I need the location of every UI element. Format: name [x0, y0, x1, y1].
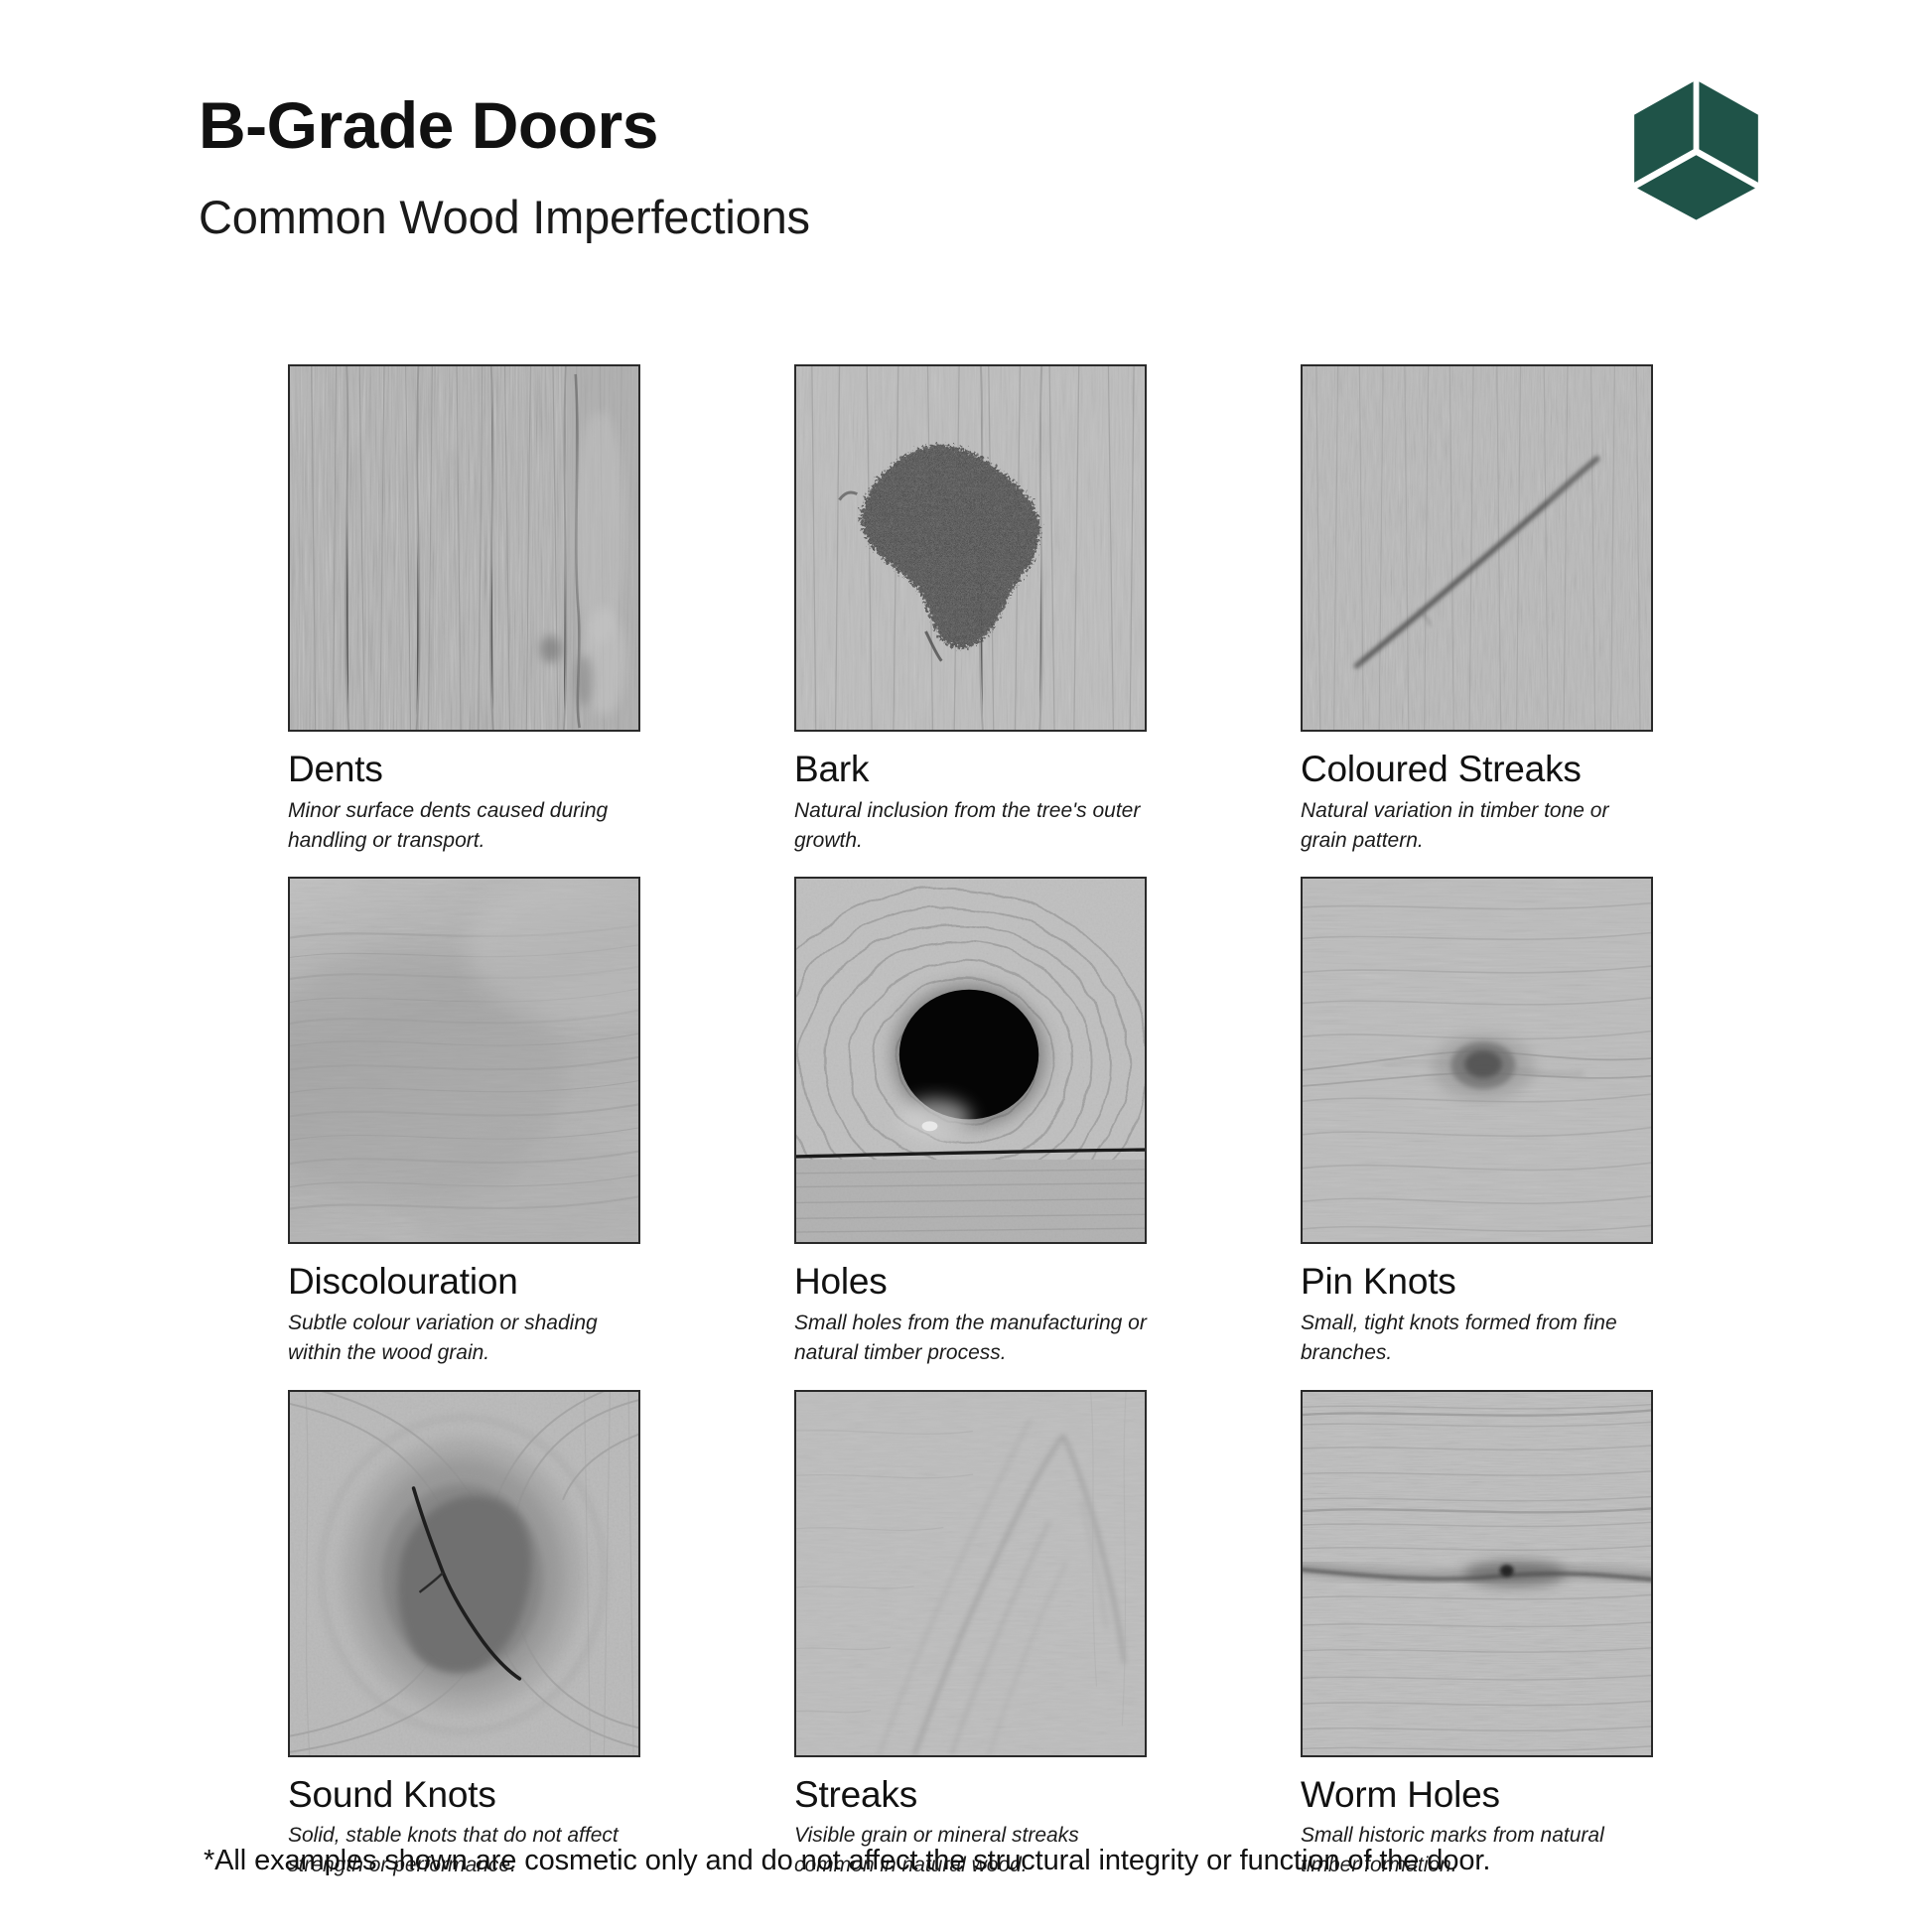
wood-sample-worm-holes [1301, 1390, 1653, 1757]
wood-sample-bark [794, 364, 1147, 732]
cell-streaks: Streaks Visible grain or mineral streaks… [794, 1390, 1147, 1880]
grid-row: Dents Minor surface dents caused during … [288, 364, 1698, 855]
wood-sample-streaks [794, 1390, 1147, 1757]
cell-title: Pin Knots [1301, 1262, 1653, 1303]
page-subtitle: Common Wood Imperfections [199, 160, 1773, 243]
wood-sample-holes [794, 877, 1147, 1244]
imperfection-grid: Dents Minor surface dents caused during … [288, 364, 1698, 1902]
cell-title: Sound Knots [288, 1775, 640, 1816]
cell-bark: Bark Natural inclusion from the tree's o… [794, 364, 1147, 855]
wood-sample-sound-knots [288, 1390, 640, 1757]
wood-sample-pin-knots [1301, 877, 1653, 1244]
footer-note: *All examples shown are cosmetic only an… [204, 1845, 1813, 1877]
cell-sound-knots: Sound Knots Solid, stable knots that do … [288, 1390, 640, 1880]
cell-title: Dents [288, 750, 640, 790]
cell-description: Small holes from the manufacturing or na… [794, 1309, 1147, 1368]
cell-description: Natural inclusion from the tree's outer … [794, 796, 1147, 856]
grid-row: Discolouration Subtle colour variation o… [288, 877, 1698, 1367]
cube-logo [1624, 74, 1768, 223]
cell-title: Holes [794, 1262, 1147, 1303]
cell-description: Small, tight knots formed from fine bran… [1301, 1309, 1653, 1368]
page-title: B-Grade Doors [199, 91, 1773, 160]
cell-title: Streaks [794, 1775, 1147, 1816]
grid-row: Sound Knots Solid, stable knots that do … [288, 1390, 1698, 1880]
cell-title: Coloured Streaks [1301, 750, 1653, 790]
wood-sample-coloured-streaks [1301, 364, 1653, 732]
cell-discolouration: Discolouration Subtle colour variation o… [288, 877, 640, 1367]
wood-sample-discolouration [288, 877, 640, 1244]
cell-title: Bark [794, 750, 1147, 790]
cell-holes: Holes Small holes from the manufacturing… [794, 877, 1147, 1367]
cell-pin-knots: Pin Knots Small, tight knots formed from… [1301, 877, 1653, 1367]
wood-sample-dents [288, 364, 640, 732]
cell-description: Minor surface dents caused during handli… [288, 796, 640, 856]
infographic-page: B-Grade Doors Common Wood Imperfections [0, 0, 1932, 1932]
cell-dents: Dents Minor surface dents caused during … [288, 364, 640, 855]
cell-worm-holes: Worm Holes Small historic marks from nat… [1301, 1390, 1653, 1880]
cell-description: Natural variation in timber tone or grai… [1301, 796, 1653, 856]
cell-title: Discolouration [288, 1262, 640, 1303]
cell-title: Worm Holes [1301, 1775, 1653, 1816]
header: B-Grade Doors Common Wood Imperfections [199, 91, 1773, 243]
cell-description: Subtle colour variation or shading withi… [288, 1309, 640, 1368]
cell-coloured-streaks: Coloured Streaks Natural variation in ti… [1301, 364, 1653, 855]
